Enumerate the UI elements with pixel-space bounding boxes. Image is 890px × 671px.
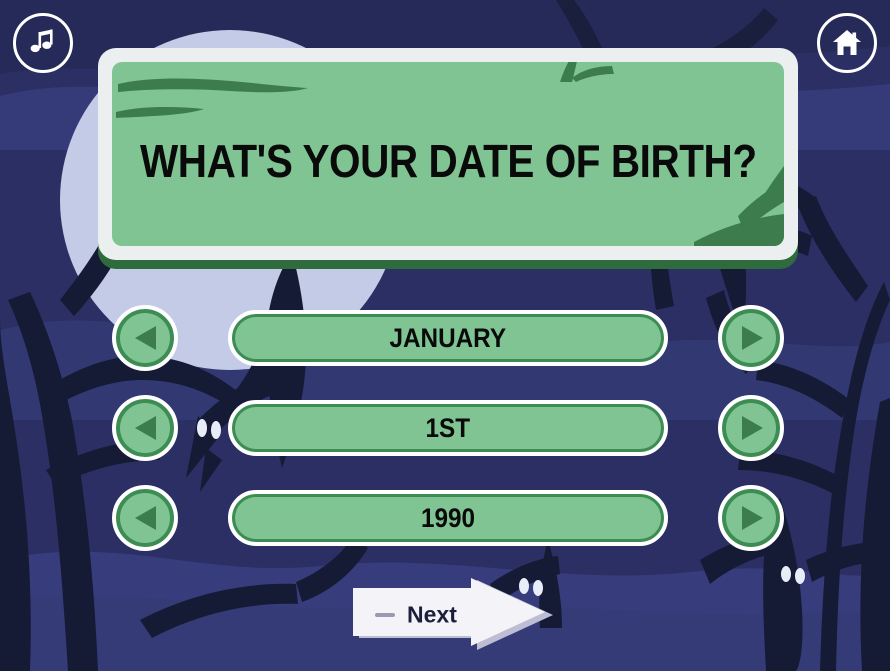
- day-value-pill[interactable]: 1ST: [228, 400, 668, 456]
- month-prev-button[interactable]: [112, 305, 178, 371]
- triangle-left-icon: [132, 414, 158, 442]
- selector-row-month: JANUARY: [112, 304, 784, 372]
- triangle-right-icon: [738, 414, 764, 442]
- question-board: WHAT'S YOUR DATE OF BIRTH?: [98, 48, 798, 260]
- year-prev-button[interactable]: [112, 485, 178, 551]
- month-next-button[interactable]: [718, 305, 784, 371]
- year-next-button[interactable]: [718, 485, 784, 551]
- month-value-pill[interactable]: JANUARY: [228, 310, 668, 366]
- day-next-button[interactable]: [718, 395, 784, 461]
- triangle-left-icon: [132, 324, 158, 352]
- next-dash-decoration: [375, 613, 395, 617]
- question-text: WHAT'S YOUR DATE OF BIRTH?: [140, 134, 757, 188]
- grass-tuft-top-left: [112, 62, 412, 132]
- game-screen: WHAT'S YOUR DATE OF BIRTH? JANUARY: [0, 0, 890, 671]
- triangle-right-icon: [738, 504, 764, 532]
- home-icon: [832, 29, 862, 57]
- grass-tuft-top-center: [542, 62, 622, 82]
- month-value: JANUARY: [390, 323, 507, 354]
- selector-row-year: 1990: [112, 484, 784, 552]
- music-toggle-button[interactable]: [13, 13, 73, 73]
- triangle-right-icon: [738, 324, 764, 352]
- music-note-icon: [28, 28, 58, 58]
- next-button[interactable]: Next: [345, 578, 557, 652]
- question-board-inner: WHAT'S YOUR DATE OF BIRTH?: [112, 62, 784, 246]
- triangle-left-icon: [132, 504, 158, 532]
- selector-row-day: 1ST: [112, 394, 784, 462]
- year-value: 1990: [421, 503, 475, 534]
- day-value: 1ST: [426, 413, 471, 444]
- year-value-pill[interactable]: 1990: [228, 490, 668, 546]
- home-button[interactable]: [817, 13, 877, 73]
- day-prev-button[interactable]: [112, 395, 178, 461]
